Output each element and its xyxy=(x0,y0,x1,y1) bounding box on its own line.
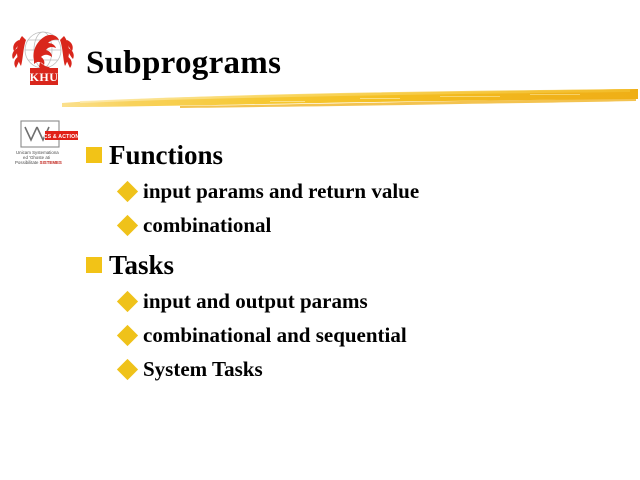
bullet-level2-system-tasks: System Tasks xyxy=(120,352,626,386)
diamond-bullet-icon xyxy=(117,214,138,235)
bullet-level2-combinational-sequential: combinational and sequential xyxy=(120,318,626,352)
bullet-level1-functions: Functions xyxy=(86,136,626,174)
presentation-slide: KHU Subprograms xyxy=(0,0,640,480)
diamond-bullet-icon xyxy=(117,290,138,311)
bullet-level2-input-output-params: input and output params xyxy=(120,284,626,318)
bullet-label: input and output params xyxy=(143,291,368,312)
bullet-label: Functions xyxy=(109,142,223,169)
bullet-label: Tasks xyxy=(109,252,174,279)
diamond-bullet-icon xyxy=(117,180,138,201)
gold-brush-divider xyxy=(60,86,640,112)
institution-logo-icon: CS & ACTION Unicam Systemationa ed 'Ghos… xyxy=(13,118,85,166)
slide-title: Subprograms xyxy=(86,47,281,80)
svg-text:Possibilitate SISTEMES: Possibilitate SISTEMES xyxy=(15,160,62,165)
svg-text:CS & ACTION: CS & ACTION xyxy=(44,134,80,140)
square-bullet-icon xyxy=(86,147,102,163)
bullet-label: combinational xyxy=(143,215,271,236)
bullet-level2-combinational: combinational xyxy=(120,208,626,242)
bullet-level2-input-params: input params and return value xyxy=(120,174,626,208)
bullet-list: Functions input params and return value … xyxy=(86,136,626,386)
bullet-label: System Tasks xyxy=(143,359,263,380)
khu-logo-icon: KHU xyxy=(10,26,76,88)
diamond-bullet-icon xyxy=(117,324,138,345)
square-bullet-icon xyxy=(86,257,102,273)
svg-text:KHU: KHU xyxy=(30,70,59,84)
bullet-label: input params and return value xyxy=(143,181,419,202)
bullet-level1-tasks: Tasks xyxy=(86,246,626,284)
bullet-label: combinational and sequential xyxy=(143,325,407,346)
diamond-bullet-icon xyxy=(117,358,138,379)
